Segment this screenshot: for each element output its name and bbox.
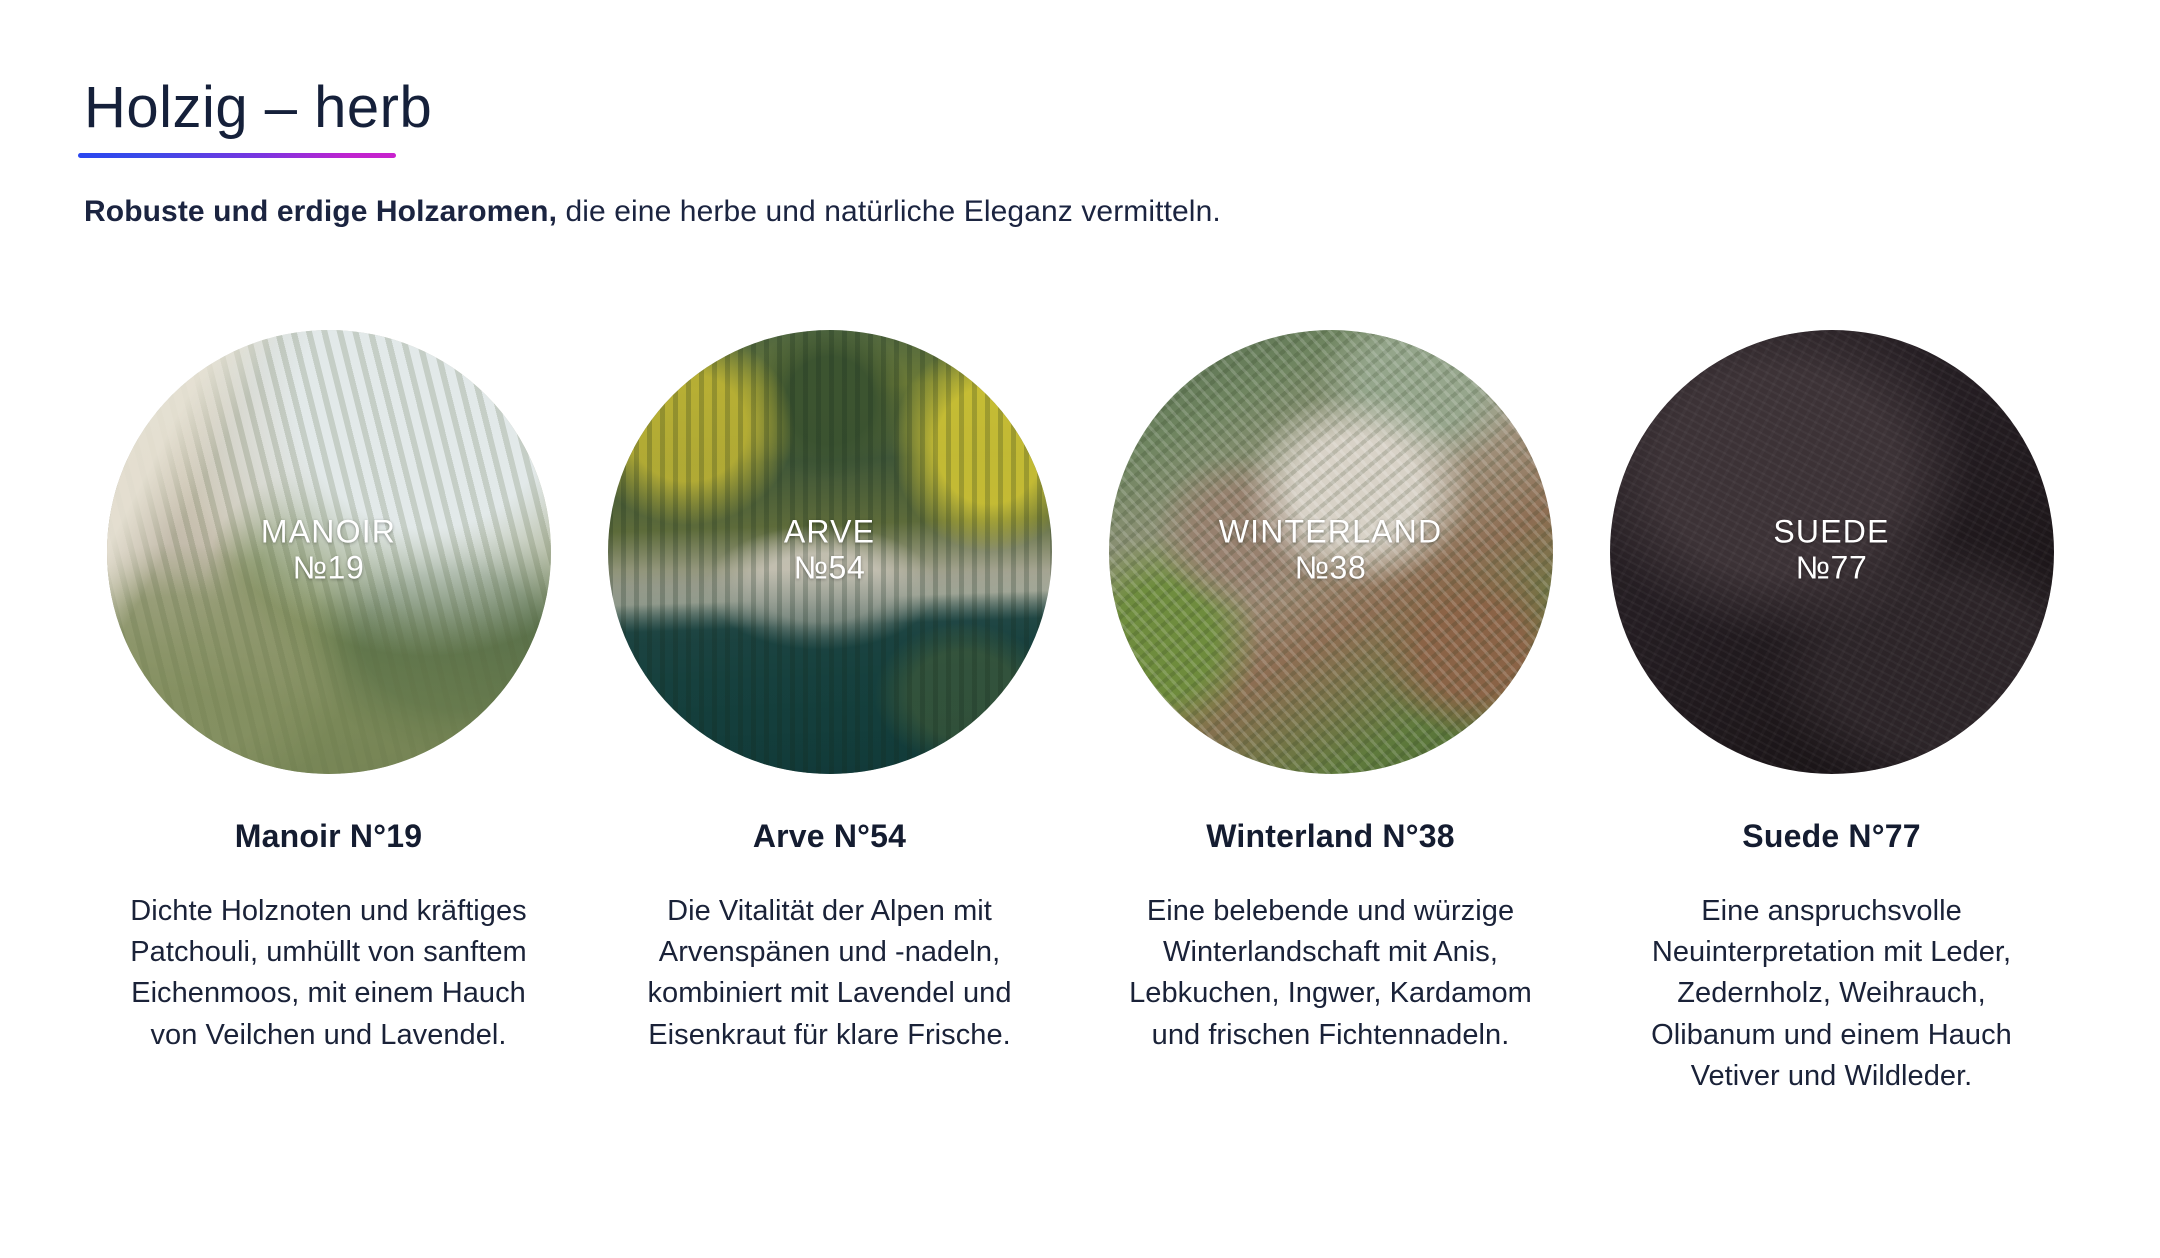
card-title: Arve N°54	[753, 818, 906, 855]
page-title: Holzig – herb	[78, 78, 1978, 153]
fragrance-card[interactable]: ARVE №54 Arve N°54 Die Vitalität der Alp…	[579, 330, 1080, 1097]
card-description: Die Vitalität der Alpen mit Arvenspänen …	[615, 891, 1045, 1056]
card-description: Dichte Holznoten und kräftiges Patchouli…	[114, 891, 544, 1056]
fragrance-circle-image[interactable]: MANOIR №19	[107, 330, 551, 774]
fragrance-circle-image[interactable]: SUEDE №77	[1610, 330, 2054, 774]
subtitle-rest: die eine herbe und natürliche Eleganz ve…	[557, 195, 1221, 228]
subtitle-lead: Robuste und erdige Holzaromen,	[84, 195, 557, 228]
fragrance-card[interactable]: WINTERLAND №38 Winterland N°38 Eine bele…	[1080, 330, 1581, 1097]
card-title: Winterland N°38	[1206, 818, 1454, 855]
fragrance-card[interactable]: MANOIR №19 Manoir N°19 Dichte Holznoten …	[78, 330, 579, 1097]
fragrance-circle-image[interactable]: ARVE №54	[608, 330, 1052, 774]
fragrance-card-row: MANOIR №19 Manoir N°19 Dichte Holznoten …	[78, 330, 2082, 1097]
title-gradient-rule	[78, 153, 396, 158]
page-subtitle: Robuste und erdige Holzaromen, die eine …	[84, 192, 1978, 233]
page-header: Holzig – herb Robuste und erdige Holzaro…	[78, 78, 1978, 232]
card-description: Eine belebende und würzige Winterlandsch…	[1116, 891, 1546, 1056]
fragrance-family-page: Holzig – herb Robuste und erdige Holzaro…	[0, 0, 2160, 1258]
black-suede-texture-photo	[1610, 330, 2054, 774]
alpine-lake-larch-photo	[608, 330, 1052, 774]
card-title: Suede N°77	[1742, 818, 1920, 855]
frosted-pinecone-fir-photo	[1109, 330, 1553, 774]
manor-wisteria-photo	[107, 330, 551, 774]
fragrance-card[interactable]: SUEDE №77 Suede N°77 Eine anspruchsvolle…	[1581, 330, 2082, 1097]
card-title: Manoir N°19	[235, 818, 422, 855]
card-description: Eine anspruchsvolle Neuinterpretation mi…	[1617, 891, 2047, 1097]
fragrance-circle-image[interactable]: WINTERLAND №38	[1109, 330, 1553, 774]
